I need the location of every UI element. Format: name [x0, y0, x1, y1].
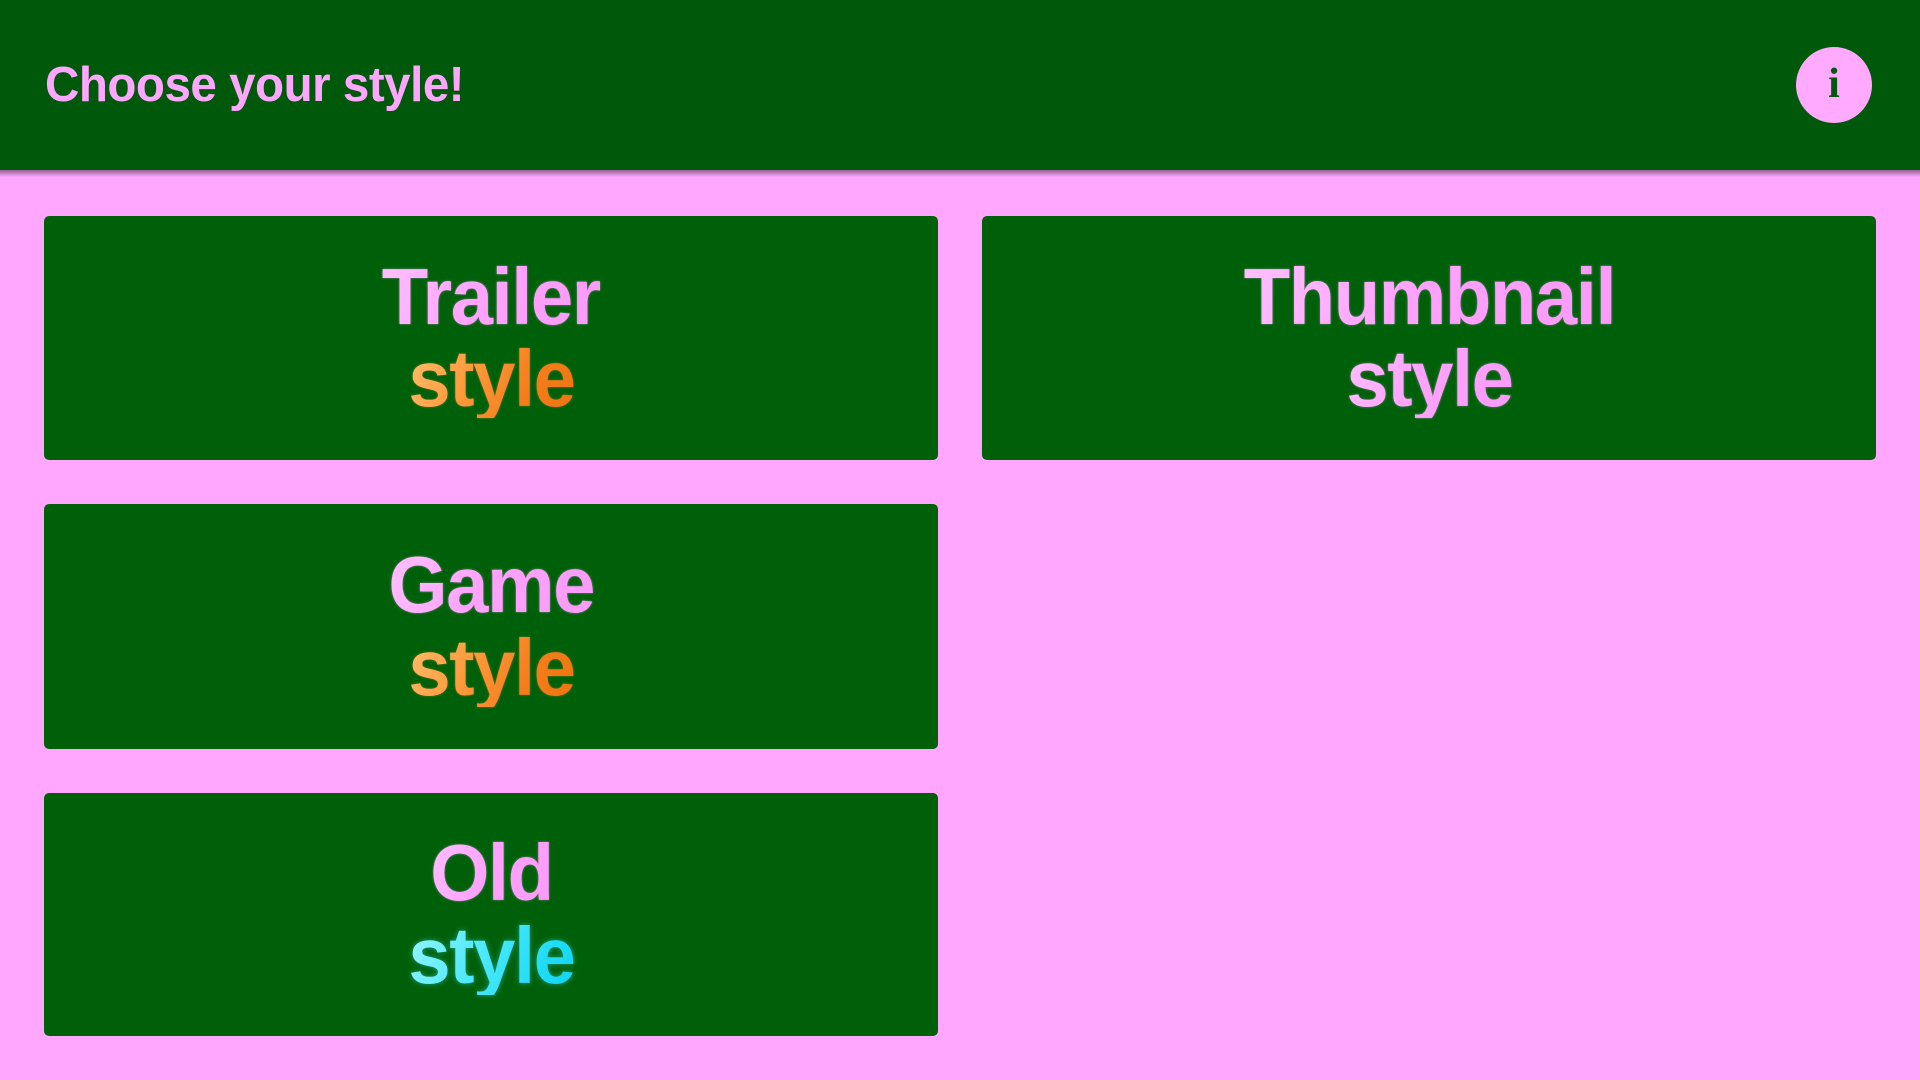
- style-card-trailer-line1: Trailer: [382, 258, 600, 336]
- style-card-old[interactable]: Old style: [44, 793, 938, 1036]
- style-card-thumbnail[interactable]: Thumbnail style: [982, 216, 1876, 460]
- style-card-thumbnail-line2: style: [1346, 340, 1512, 418]
- style-card-game[interactable]: Game style: [44, 504, 938, 749]
- app-bar-shadow: [0, 170, 1920, 177]
- style-card-game-line1: Game: [388, 546, 594, 624]
- page-title: Choose your style!: [45, 61, 464, 110]
- style-card-grid: Trailer style Thumbnail style Game style…: [44, 216, 1876, 1036]
- style-card-old-line2: style: [408, 917, 574, 995]
- style-card-trailer-line2: style: [408, 340, 574, 418]
- info-button[interactable]: i: [1796, 47, 1872, 123]
- info-icon: i: [1828, 63, 1840, 105]
- style-card-trailer[interactable]: Trailer style: [44, 216, 938, 460]
- style-card-old-line1: Old: [430, 834, 552, 912]
- app-bar: Choose your style! i: [0, 0, 1920, 170]
- style-card-game-line2: style: [408, 629, 574, 707]
- style-card-thumbnail-line1: Thumbnail: [1243, 258, 1614, 336]
